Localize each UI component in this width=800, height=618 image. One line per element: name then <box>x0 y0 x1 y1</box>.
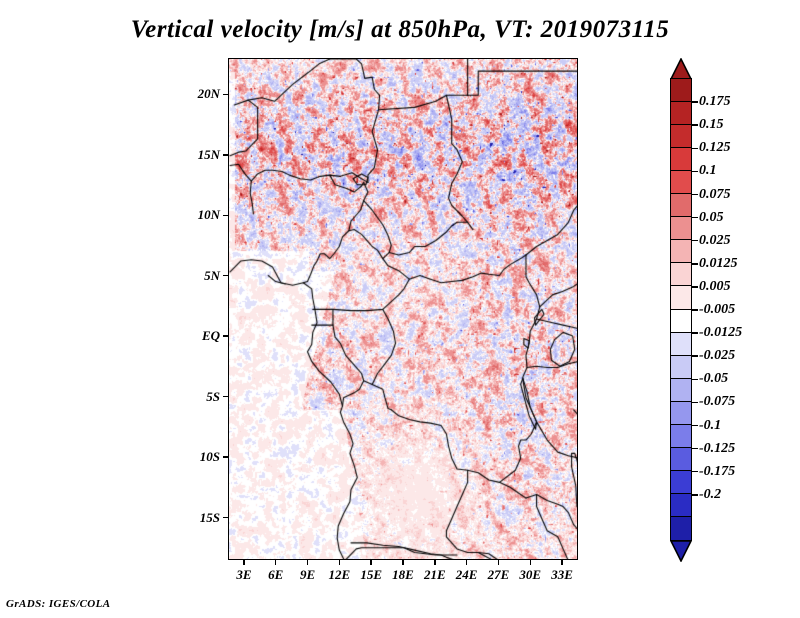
x-axis-tick <box>339 560 341 565</box>
page-title: Vertical velocity [m/s] at 850hPa, VT: 2… <box>0 16 800 44</box>
colorbar-cap-bottom <box>670 541 692 562</box>
colorbar-tick <box>692 194 698 196</box>
colorbar-band-18 <box>670 493 692 518</box>
y-axis-label-eq: EQ <box>182 328 220 344</box>
y-axis-label-5n: 5N <box>182 268 220 284</box>
x-axis-label-24e: 24E <box>456 567 478 583</box>
colorbar-band-13 <box>670 378 692 403</box>
x-axis-label-33e: 33E <box>551 567 573 583</box>
colorbar-label-1: 0.15 <box>699 117 724 133</box>
x-axis-label-9e: 9E <box>300 567 315 583</box>
colorbar-label-0: 0.175 <box>699 94 731 110</box>
colorbar-label-4: 0.075 <box>699 187 731 203</box>
x-axis-label-12e: 12E <box>329 567 351 583</box>
colorbar-tick <box>692 171 698 173</box>
footer-credit: GrADS: IGES/COLA <box>6 598 111 610</box>
colorbar-label-11: -0.025 <box>699 348 735 364</box>
colorbar-label-14: -0.1 <box>699 418 721 434</box>
colorbar-cap-top <box>670 58 692 79</box>
grads-plot-page: Vertical velocity [m/s] at 850hPa, VT: 2… <box>0 0 800 618</box>
y-axis-label-15n: 15N <box>182 147 220 163</box>
colorbar-tick <box>692 332 698 334</box>
x-axis-tick <box>307 560 309 565</box>
colorbar-tick <box>692 101 698 103</box>
colorbar-label-16: -0.175 <box>699 464 735 480</box>
y-axis-label-5s: 5S <box>182 389 220 405</box>
colorbar-label-5: 0.05 <box>699 210 724 226</box>
colorbar-band-12 <box>670 355 692 380</box>
colorbar-band-4 <box>670 170 692 195</box>
colorbar-band-1 <box>670 101 692 126</box>
x-axis-tick <box>275 560 277 565</box>
colorbar-band-14 <box>670 401 692 426</box>
colorbar-tick <box>692 355 698 357</box>
colorbar-band-19 <box>670 516 692 541</box>
colorbar-tick <box>692 263 698 265</box>
colorbar-label-8: 0.005 <box>699 279 731 295</box>
colorbar-tick <box>692 448 698 450</box>
y-axis-tick <box>223 335 228 337</box>
y-axis-tick <box>223 275 228 277</box>
colorbar-band-7 <box>670 239 692 264</box>
y-axis-label-15s: 15S <box>182 510 220 526</box>
colorbar-label-17: -0.2 <box>699 487 721 503</box>
colorbar-label-13: -0.075 <box>699 394 735 410</box>
x-axis-label-30e: 30E <box>519 567 541 583</box>
country-borders-overlay <box>229 59 578 560</box>
colorbar-band-9 <box>670 285 692 310</box>
x-axis-tick <box>498 560 500 565</box>
x-axis-tick <box>466 560 468 565</box>
y-axis-tick <box>223 154 228 156</box>
colorbar-band-17 <box>670 470 692 495</box>
colorbar-label-9: -0.005 <box>699 302 735 318</box>
y-axis-tick <box>223 456 228 458</box>
x-axis-label-27e: 27E <box>488 567 510 583</box>
colorbar-label-12: -0.05 <box>699 371 728 387</box>
y-axis-tick <box>223 396 228 398</box>
y-axis-label-10n: 10N <box>182 207 220 223</box>
colorbar-tick <box>692 309 698 311</box>
colorbar-label-15: -0.125 <box>699 441 735 457</box>
y-axis-label-20n: 20N <box>182 86 220 102</box>
colorbar-band-15 <box>670 424 692 449</box>
x-axis-tick <box>243 560 245 565</box>
colorbar-tick <box>692 217 698 219</box>
x-axis-label-21e: 21E <box>424 567 446 583</box>
colorbar-tick <box>692 379 698 381</box>
colorbar-band-3 <box>670 147 692 172</box>
colorbar-label-10: -0.0125 <box>699 325 742 341</box>
colorbar-tick <box>692 286 698 288</box>
y-axis-label-10s: 10S <box>182 449 220 465</box>
colorbar-band-0 <box>670 78 692 103</box>
y-axis-tick <box>223 517 228 519</box>
x-axis-label-15e: 15E <box>360 567 382 583</box>
colorbar-tick <box>692 402 698 404</box>
colorbar-tick <box>692 494 698 496</box>
colorbar-band-6 <box>670 216 692 241</box>
colorbar-label-6: 0.025 <box>699 233 731 249</box>
colorbar-band-2 <box>670 124 692 149</box>
x-axis-label-3e: 3E <box>236 567 251 583</box>
colorbar-tick <box>692 124 698 126</box>
x-axis-label-18e: 18E <box>392 567 414 583</box>
colorbar: 0.1750.150.1250.10.0750.050.0250.01250.0… <box>670 58 800 563</box>
colorbar-tick <box>692 425 698 427</box>
x-axis-tick <box>561 560 563 565</box>
x-axis-label-6e: 6E <box>268 567 283 583</box>
x-axis-tick <box>530 560 532 565</box>
colorbar-label-2: 0.125 <box>699 140 731 156</box>
y-axis-tick <box>223 94 228 96</box>
colorbar-band-8 <box>670 262 692 287</box>
colorbar-band-5 <box>670 193 692 218</box>
x-axis-tick <box>402 560 404 565</box>
colorbar-tick <box>692 240 698 242</box>
colorbar-label-3: 0.1 <box>699 163 717 179</box>
map-plot-area <box>228 58 578 560</box>
colorbar-band-16 <box>670 447 692 472</box>
x-axis-tick <box>370 560 372 565</box>
colorbar-tick <box>692 471 698 473</box>
x-axis-tick <box>434 560 436 565</box>
colorbar-label-7: 0.0125 <box>699 256 738 272</box>
colorbar-band-11 <box>670 332 692 357</box>
colorbar-tick <box>692 148 698 150</box>
y-axis-tick <box>223 215 228 217</box>
colorbar-band-10 <box>670 309 692 334</box>
